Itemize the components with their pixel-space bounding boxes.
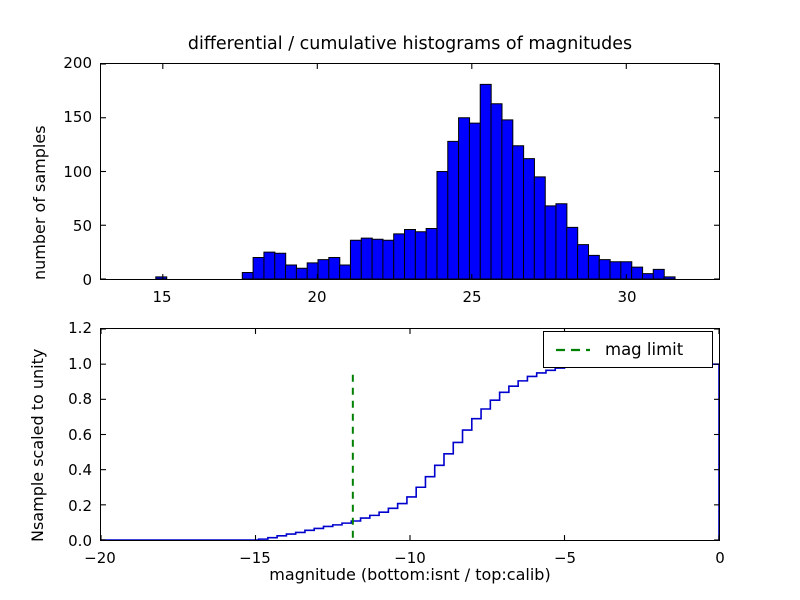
histogram-bar [318,260,329,279]
x-axis-label: magnitude (bottom:isnt / top:calib) [100,565,720,584]
histogram-bar [513,146,524,279]
histogram-plot-area [101,64,719,279]
top-x-tick-label: 25 [462,288,481,306]
histogram-bar [664,277,675,279]
histogram-bar [253,258,264,280]
top-x-tick-label: 15 [152,288,171,306]
histogram-bar [383,240,394,279]
histogram-bar [632,267,643,279]
top-x-tick-label: 30 [617,288,636,306]
histogram-bar [491,104,502,279]
histogram-bar [242,273,253,279]
histogram-bar [405,230,416,279]
histogram-axes [100,63,720,280]
histogram-bar [578,245,589,279]
histogram-bar [642,274,653,279]
histogram-bar [415,232,426,279]
top-y-tick-label: 200 [34,54,92,72]
histogram-bar [264,252,275,279]
histogram-bar [448,141,459,279]
histogram-bar [588,255,599,279]
histogram-bar [286,265,297,279]
histogram-bar [361,238,372,279]
histogram-bar [394,234,405,279]
histogram-bar [437,172,448,280]
legend-label-mag-limit: mag limit [605,340,683,359]
bottom-y-axis-label: Nsample scaled to unity [28,349,47,542]
legend[interactable]: mag limit [543,331,713,368]
histogram-bar [610,262,621,279]
histogram-bar [469,123,480,279]
histogram-bar [567,227,578,279]
mag-limit-dash-icon [555,344,591,356]
chart-title: differential / cumulative histograms of … [100,34,720,54]
histogram-bar [523,159,534,279]
top-y-axis-label: number of samples [30,125,49,280]
histogram-bar [350,240,361,279]
figure-canvas: differential / cumulative histograms of … [0,0,800,600]
histogram-bar [329,258,340,280]
histogram-bar [653,269,664,279]
histogram-bar [599,260,610,279]
bottom-y-tick-label: 1.2 [34,319,92,337]
histogram-bar [296,268,307,279]
histogram-bar [426,228,437,279]
histogram-bar [307,263,318,279]
histogram-bar [275,253,286,279]
histogram-bar [502,120,513,279]
histogram-bar [372,239,383,279]
histogram-bar [545,206,556,279]
histogram-bar [556,204,567,279]
histogram-bar [534,177,545,279]
histogram-bar [156,277,167,279]
histogram-bar [480,84,491,279]
histogram-bar [459,118,470,279]
histogram-bar [340,265,351,279]
top-x-tick-label: 20 [307,288,326,306]
top-y-tick-label: 150 [34,108,92,126]
cumulative-step-line [101,364,719,540]
